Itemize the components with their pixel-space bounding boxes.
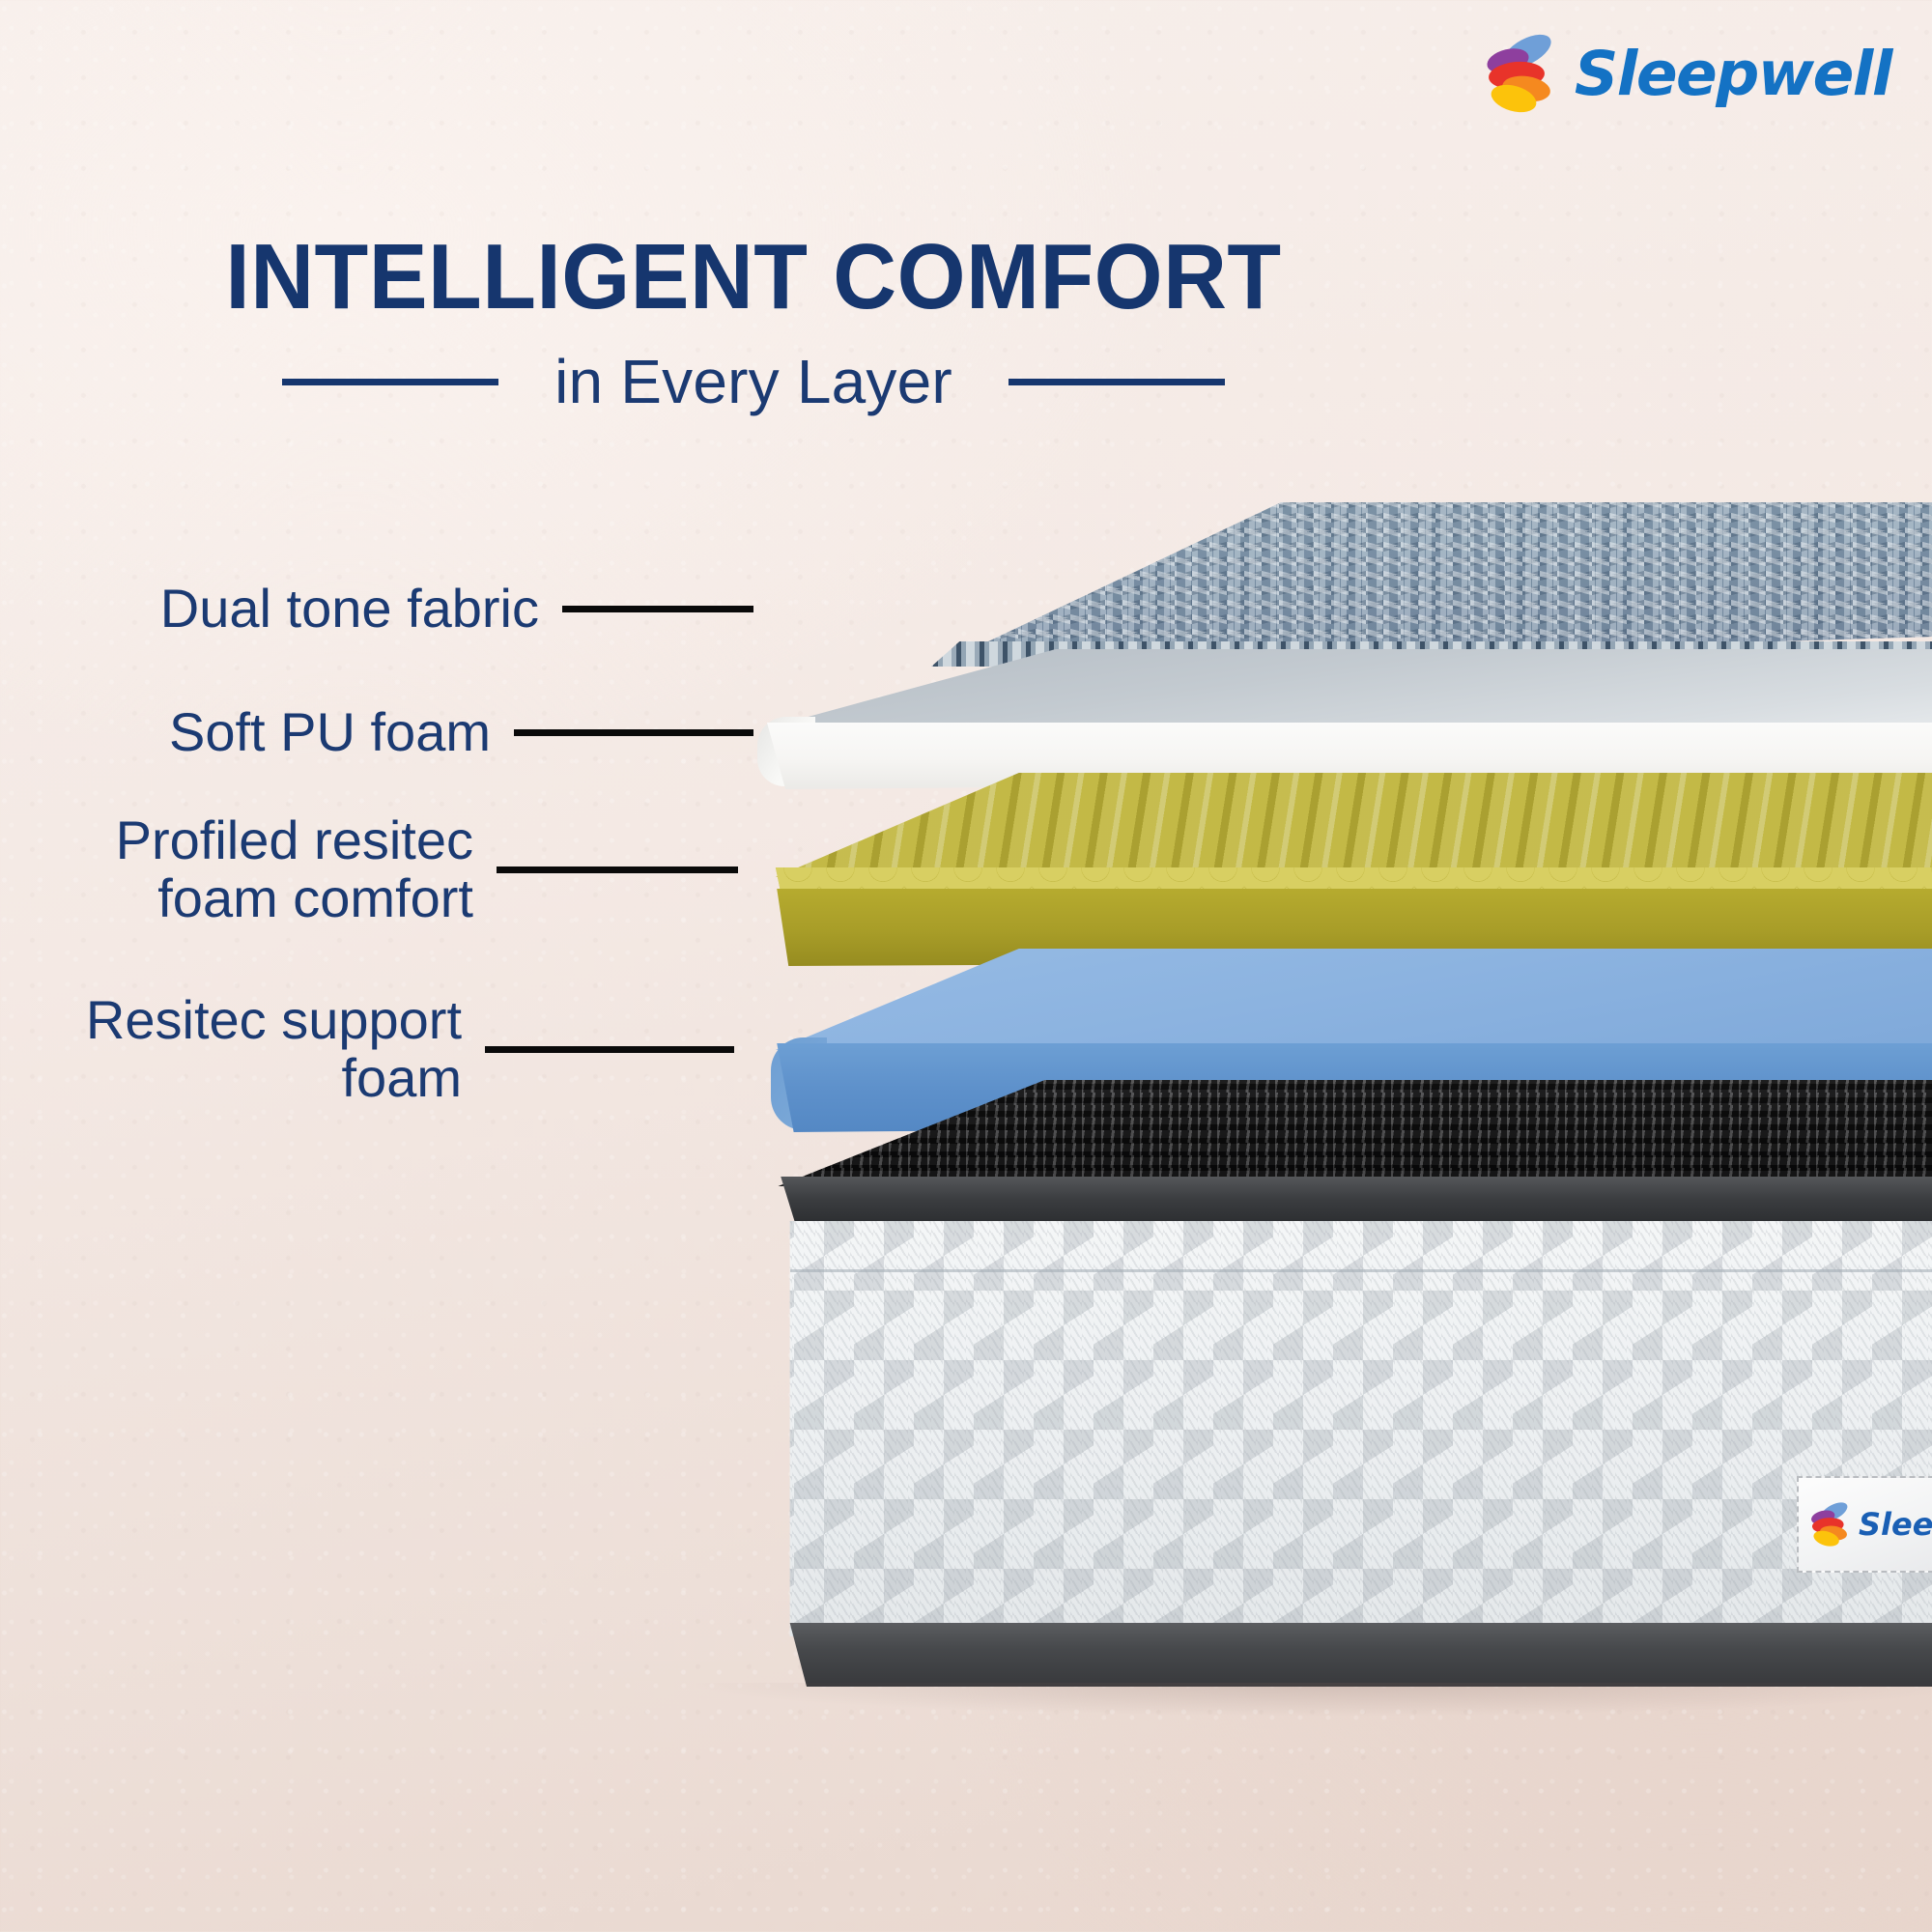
base-honeycomb-side-panel xyxy=(734,1221,1932,1636)
callout-label: Resitec support foam xyxy=(86,991,462,1108)
callout-leader-line xyxy=(497,867,738,873)
page-title: INTELLIGENT COMFORT xyxy=(38,224,1469,330)
callout-leader-line xyxy=(562,606,753,612)
blue-top-surface xyxy=(734,949,1932,1050)
callout-label: Soft PU foam xyxy=(169,703,491,761)
subtitle-rule-left xyxy=(282,379,498,385)
callout-leader-line xyxy=(485,1046,734,1053)
pu-front-face xyxy=(713,723,1932,789)
fabric-front-edge xyxy=(618,641,1932,667)
pu-corner-round xyxy=(757,717,815,786)
page-subtitle: in Every Layer xyxy=(554,346,952,417)
base-side-seam xyxy=(790,1269,1932,1272)
layer-profiled-resitec-foam xyxy=(734,773,1932,966)
layer-base-mattress xyxy=(734,1080,1932,1698)
blue-front-face xyxy=(734,1043,1932,1132)
base-black-mesh-top xyxy=(734,1080,1932,1186)
pu-top-surface xyxy=(713,649,1932,728)
sleepwell-swirl-icon xyxy=(1482,29,1557,118)
side-brand-tag: Sleepwell xyxy=(1797,1476,1932,1573)
callout-dual-tone-fabric: Dual tone fabric xyxy=(160,580,753,638)
layer-soft-pu-foam xyxy=(713,649,1932,789)
fabric-top-surface xyxy=(618,502,1932,667)
base-bottom-piping xyxy=(734,1623,1932,1687)
sleepwell-swirl-icon xyxy=(1808,1499,1851,1549)
base-top-piping xyxy=(734,1177,1932,1227)
callout-leader-line xyxy=(514,729,753,736)
stack-drop-shadow xyxy=(696,1683,1932,1716)
sleepwell-logo: Sleepwell xyxy=(1482,29,1891,118)
sleepwell-wordmark: Sleepwell xyxy=(1575,43,1891,104)
callout-resitec-support-foam: Resitec support foam xyxy=(86,991,734,1108)
callout-label: Profiled resitec foam comfort xyxy=(116,811,473,928)
subtitle-rule-right xyxy=(1009,379,1225,385)
side-tag-wordmark: Sleepwell xyxy=(1859,1509,1932,1540)
olive-front-face xyxy=(734,889,1932,966)
blue-corner-round xyxy=(771,1037,827,1130)
callout-profiled-resitec-foam: Profiled resitec foam comfort xyxy=(116,811,738,928)
olive-wave-edge xyxy=(734,867,1932,893)
subtitle-row: in Every Layer xyxy=(0,346,1507,417)
olive-ridged-surface xyxy=(734,773,1932,877)
callout-soft-pu-foam: Soft PU foam xyxy=(169,703,753,761)
callout-label: Dual tone fabric xyxy=(160,580,539,638)
layer-dual-tone-fabric xyxy=(618,502,1932,667)
layer-resitec-support-foam xyxy=(734,949,1932,1132)
